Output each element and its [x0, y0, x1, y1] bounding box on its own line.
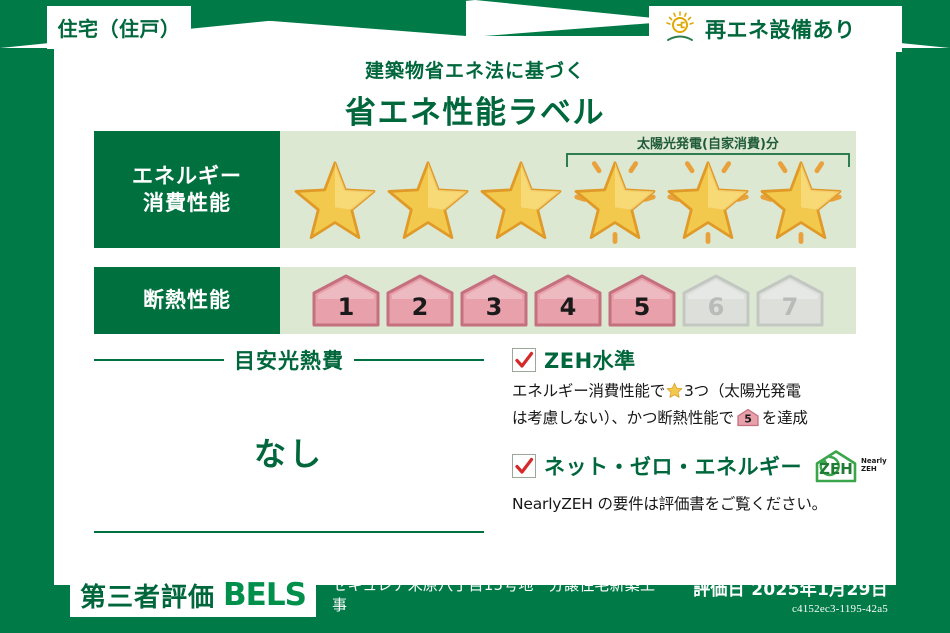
net-zero-energy-description: NearlyZEH の要件は評価書をご覧ください。	[512, 492, 872, 516]
utility-cost-value: なし	[94, 429, 484, 475]
renewable-equipment-badge: 再エネ設備あり	[649, 6, 902, 52]
net-zero-energy-item: ネット・ゼロ・エネルギー ZEH Nearly ZEH NearlyZEH の要…	[512, 448, 872, 516]
evaluation-date: 評価日 2025年1月29日	[693, 575, 888, 600]
footer-meta: 評価日 2025年1月29日 c4152ec3-1195-42a5	[693, 575, 888, 615]
insulation-performance-label-cell: 断熱性能	[94, 267, 280, 334]
solar-sun-icon	[663, 10, 697, 48]
net-zero-energy-checkbox[interactable]	[512, 454, 536, 478]
inline-star-icon	[666, 385, 683, 403]
energy-performance-body: 太陽光発電(自家消費)分	[280, 131, 856, 248]
zeh-logo-sub-line1: Nearly	[861, 457, 887, 465]
energy-star	[665, 158, 751, 244]
zeh-standard-description: エネルギー消費性能で3つ（太陽光発電は考慮しない）、かつ断熱性能で5を達成	[512, 379, 872, 434]
insulation-level-badge: 4	[532, 273, 604, 329]
zeh-standard-title: ZEH水準	[544, 345, 636, 375]
net-zero-energy-title: ネット・ゼロ・エネルギー	[544, 451, 802, 481]
bels-badge: 第三者評価 BELS	[70, 573, 316, 617]
zeh-standard-header: ZEH水準	[512, 345, 872, 375]
zeh-desc-part-c: は考慮しない）、かつ断熱性能で	[512, 409, 734, 427]
project-name: セキュレア米原八丁目15号地 分譲住宅新築工事	[332, 575, 662, 616]
insulation-level-number: 3	[458, 293, 530, 321]
solar-star-icon	[572, 158, 658, 244]
zeh-standard-checkbox[interactable]	[512, 348, 536, 372]
solar-bracket-label: 太陽光発電(自家消費)分	[566, 133, 850, 152]
insulation-level-number: 5	[606, 293, 678, 321]
insulation-level-badge: 6	[680, 273, 752, 329]
insulation-level-scale: 1 2 3 4 5	[280, 273, 856, 329]
energy-performance-label: 住宅（住戸） 再エネ設備あり 建築物省エネ法に基づく	[0, 0, 950, 633]
insulation-level-number: 2	[384, 293, 456, 321]
building-type-label: 住宅（住戸）	[58, 13, 181, 42]
insulation-level-number: 7	[754, 293, 826, 321]
label-subtitle: 建築物省エネ法に基づく	[0, 56, 950, 83]
bels-jp-label: 第三者評価	[80, 577, 215, 614]
energy-label-line1: エネルギー	[132, 163, 242, 189]
label-title-block: 建築物省エネ法に基づく 省エネ性能ラベル	[0, 56, 950, 132]
star-icon	[292, 158, 378, 244]
solar-star-icon	[665, 158, 751, 244]
insulation-label: 断熱性能	[143, 287, 231, 313]
energy-star	[385, 158, 471, 244]
check-icon	[513, 455, 535, 477]
zeh-logo-sub-line2: ZEH	[861, 465, 877, 473]
energy-star	[758, 158, 844, 244]
zeh-logo-icon: ZEH Nearly ZEH	[812, 448, 887, 484]
energy-label-line2: 消費性能	[143, 190, 231, 216]
evaluation-id: c4152ec3-1195-42a5	[693, 603, 888, 615]
insulation-level-number: 6	[680, 293, 752, 321]
utility-cost-header: 目安光熱費	[94, 345, 484, 375]
check-icon	[513, 349, 535, 371]
net-zero-energy-header: ネット・ゼロ・エネルギー ZEH Nearly ZEH	[512, 448, 872, 484]
insulation-level-badge: 3	[458, 273, 530, 329]
utility-cost-title: 目安光熱費	[234, 345, 344, 375]
building-type-badge: 住宅（住戸）	[47, 6, 191, 49]
energy-star	[478, 158, 564, 244]
star-icon	[385, 158, 471, 244]
insulation-level-number: 1	[310, 293, 382, 321]
insulation-performance-body: 1 2 3 4 5	[280, 267, 856, 334]
inline-insulation-badge-number: 5	[744, 413, 751, 426]
energy-star-rating	[280, 158, 856, 244]
insulation-level-badge: 5	[606, 273, 678, 329]
zeh-desc-part-a: エネルギー消費性能で	[512, 382, 665, 400]
zeh-block: ZEH水準 エネルギー消費性能で3つ（太陽光発電は考慮しない）、かつ断熱性能で5…	[512, 345, 872, 530]
energy-star	[572, 158, 658, 244]
utility-cost-bottom-rule	[94, 531, 484, 533]
solar-star-icon	[758, 158, 844, 244]
rule-left	[94, 359, 224, 361]
zeh-desc-part-d: を達成	[762, 409, 808, 427]
label-footer: 第三者評価 BELS セキュレア米原八丁目15号地 分譲住宅新築工事 評価日 2…	[0, 563, 950, 633]
rule-right	[354, 359, 484, 361]
zeh-desc-part-b: 3つ（太陽光発電	[684, 382, 801, 400]
inline-insulation-badge: 5	[736, 413, 760, 431]
star-icon	[478, 158, 564, 244]
energy-star	[292, 158, 378, 244]
renewable-equipment-label: 再エネ設備あり	[705, 14, 856, 44]
zeh-standard-item: ZEH水準 エネルギー消費性能で3つ（太陽光発電は考慮しない）、かつ断熱性能で5…	[512, 345, 872, 434]
energy-performance-row: エネルギー 消費性能 太陽光発電(自家消費)分	[94, 131, 856, 248]
utility-cost-block: 目安光熱費 なし	[94, 345, 484, 533]
insulation-level-number: 4	[532, 293, 604, 321]
energy-performance-label-cell: エネルギー 消費性能	[94, 131, 280, 248]
insulation-level-badge: 2	[384, 273, 456, 329]
page-title: 省エネ性能ラベル	[0, 87, 950, 132]
zeh-logo-text: ZEH	[819, 460, 853, 478]
insulation-level-badge: 1	[310, 273, 382, 329]
bels-en-label: BELS	[223, 577, 306, 613]
insulation-level-badge: 7	[754, 273, 826, 329]
insulation-performance-row: 断熱性能 1 2 3 4	[94, 267, 856, 334]
